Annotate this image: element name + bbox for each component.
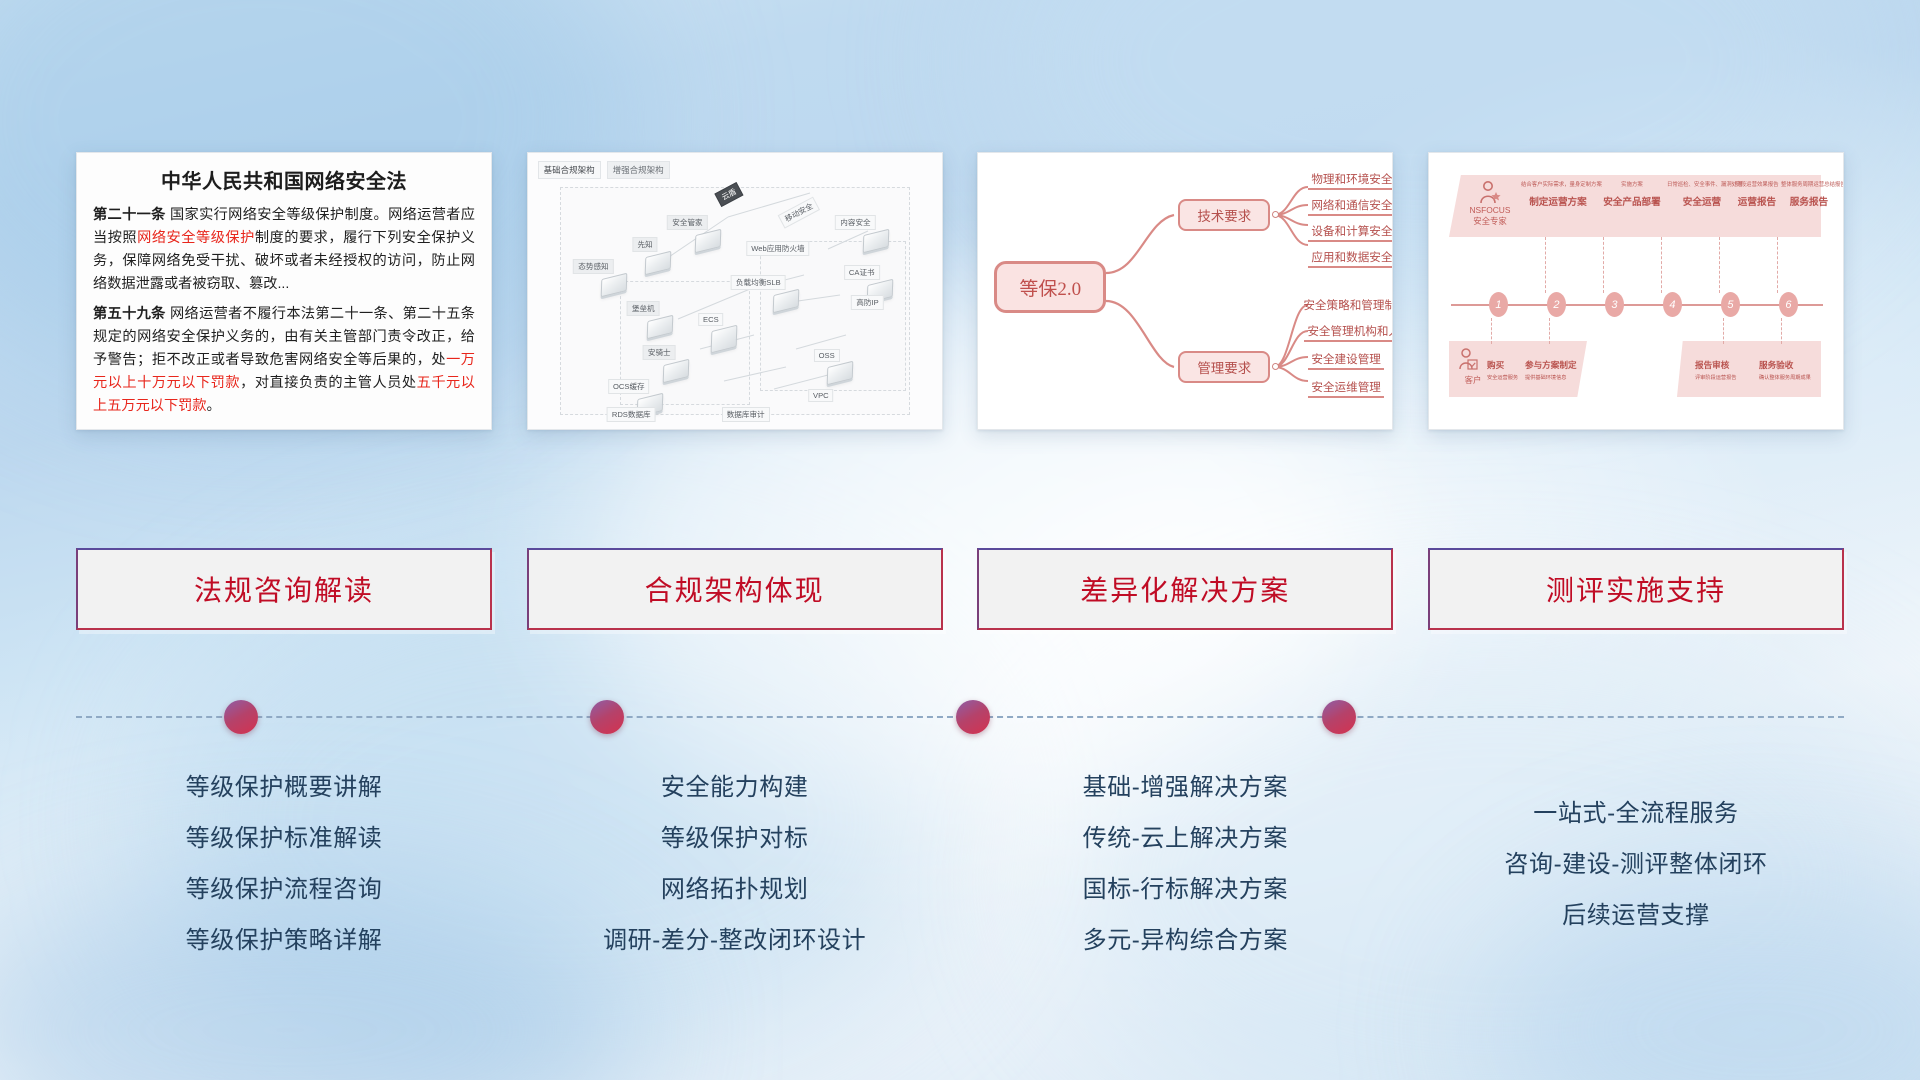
client-step-2: 参与方案制定 提供基础环境信息 bbox=[1525, 359, 1577, 381]
timeline-step-number: 2 bbox=[1547, 292, 1566, 317]
timeline-step-number: 4 bbox=[1663, 292, 1682, 317]
expert-role-label: NSFOCUS 安全专家 bbox=[1461, 205, 1519, 226]
law-article-59-text-c: 。 bbox=[207, 398, 221, 414]
arch-node-label: 堡垒机 bbox=[627, 301, 660, 316]
expert-step-main: 服务报告 bbox=[1781, 194, 1837, 208]
arch-node-label: 安全管家 bbox=[667, 215, 707, 230]
client-role: 客户 bbox=[1455, 375, 1491, 386]
heading-label: 法规咨询解读 bbox=[194, 569, 374, 609]
mindmap-branch-management: 管理要求 bbox=[1178, 351, 1270, 383]
expert-step-2: 实施方案 安全产品部署 bbox=[1595, 183, 1669, 208]
heading-box-row: 法规咨询解读 合规架构体现 差异化解决方案 测评实施支持 bbox=[0, 548, 1920, 630]
detail-column-4: 一站式-全流程服务 咨询-建设-测评整体闭环 后续运营支撑 bbox=[1428, 762, 1844, 966]
arch-node-label: 安骑士 bbox=[643, 345, 676, 360]
arch-node-label: ECS bbox=[698, 313, 724, 326]
client-step-main: 报告审核 bbox=[1695, 360, 1729, 370]
nsfocus-brand: NSFOCUS bbox=[1461, 205, 1519, 216]
card-nsfocus-service-timeline[interactable]: NSFOCUS 安全专家 结合客户实际需求，量身定制方案 制定运营方案 实施方案… bbox=[1428, 152, 1844, 430]
client-step-tiny: 安全运营服务 bbox=[1487, 374, 1518, 381]
card-dengbao-mindmap[interactable]: 等保2.0 技术要求 管理要求 物理和环境安全 网络和通信安全 设备和计算安全 … bbox=[977, 152, 1393, 430]
mindmap-leaf: 物理和环境安全 bbox=[1308, 171, 1393, 190]
timeline-tick bbox=[1545, 237, 1546, 293]
detail-item: 一站式-全流程服务 bbox=[1428, 788, 1844, 839]
arch-node-label: OCS缓存 bbox=[608, 379, 650, 394]
client-step-tiny: 评审阶段运营报告 bbox=[1695, 374, 1737, 381]
timeline-tick bbox=[1549, 318, 1550, 344]
client-step-tiny: 确认整体服务周期成果 bbox=[1759, 374, 1811, 381]
timeline-step-number: 1 bbox=[1489, 292, 1508, 317]
mindmap-leaf: 安全运维管理 bbox=[1308, 379, 1384, 398]
mindmap-leaf: 安全策略和管理制度 bbox=[1300, 297, 1393, 314]
mindmap-leaf: 网络和通信安全 bbox=[1308, 197, 1393, 216]
client-role-label: 客户 bbox=[1455, 375, 1491, 386]
nsfocus-timeline-diagram: NSFOCUS 安全专家 结合客户实际需求，量身定制方案 制定运营方案 实施方案… bbox=[1429, 153, 1843, 429]
heading-box-differentiated-solution[interactable]: 差异化解决方案 bbox=[977, 548, 1393, 630]
detail-item: 多元-异构综合方案 bbox=[977, 915, 1393, 966]
law-document: 中华人民共和国网络安全法 第二十一条 国家实行网络安全等级保护制度。网络运营者应… bbox=[77, 153, 491, 430]
detail-column-2: 安全能力构建 等级保护对标 网络拓扑规划 调研-差分-整改闭环设计 bbox=[527, 762, 943, 966]
timeline-step-number: 5 bbox=[1721, 292, 1740, 317]
detail-item: 咨询-建设-测评整体闭环 bbox=[1428, 839, 1844, 890]
expert-step-sub: 阶段运营效果报告 bbox=[1729, 183, 1785, 189]
arch-node-label: 高防IP bbox=[851, 295, 883, 310]
detail-column-3: 基础-增强解决方案 传统-云上解决方案 国标-行标解决方案 多元-异构综合方案 bbox=[977, 762, 1393, 966]
heading-label: 合规架构体现 bbox=[645, 569, 825, 609]
timeline-node-2[interactable] bbox=[590, 700, 624, 734]
timeline-step-number: 6 bbox=[1779, 292, 1798, 317]
law-article-21-highlight: 网络安全等级保护 bbox=[137, 230, 255, 246]
law-article-21: 第二十一条 国家实行网络安全等级保护制度。网络运营者应当按照网络安全等级保护制度… bbox=[93, 204, 475, 296]
expert-step-5: 整体服务周期运营总结报告 服务报告 bbox=[1781, 183, 1837, 208]
timeline-tick bbox=[1491, 318, 1492, 344]
heading-label: 测评实施支持 bbox=[1546, 569, 1726, 609]
heading-box-assessment-support[interactable]: 测评实施支持 bbox=[1428, 548, 1844, 630]
heading-label: 差异化解决方案 bbox=[1080, 569, 1290, 609]
card-compliance-architecture[interactable]: 基础合规架构 增强合规架构 bbox=[527, 152, 943, 430]
mindmap-root-node: 等保2.0 bbox=[994, 261, 1106, 313]
mindmap-leaf: 设备和计算安全 bbox=[1308, 223, 1393, 242]
arch-node-label: 数据库审计 bbox=[722, 407, 770, 422]
heading-box-regulation-consulting[interactable]: 法规咨询解读 bbox=[76, 548, 492, 630]
detail-column-row: 等级保护概要讲解 等级保护标准解读 等级保护流程咨询 等级保护策略详解 安全能力… bbox=[0, 762, 1920, 966]
mindmap-leaf: 应用和数据安全 bbox=[1308, 249, 1393, 268]
timeline-node-4[interactable] bbox=[1322, 700, 1356, 734]
client-step-main: 服务验收 bbox=[1759, 360, 1793, 370]
mindmap-branch-technical: 技术要求 bbox=[1178, 199, 1270, 231]
detail-item: 等级保护流程咨询 bbox=[76, 864, 492, 915]
detail-item: 安全能力构建 bbox=[527, 762, 943, 813]
mindmap-diagram: 等保2.0 技术要求 管理要求 物理和环境安全 网络和通信安全 设备和计算安全 … bbox=[978, 153, 1392, 429]
heading-box-compliance-architecture[interactable]: 合规架构体现 bbox=[527, 548, 943, 630]
timeline-tick bbox=[1777, 237, 1778, 293]
card-cybersecurity-law[interactable]: 中华人民共和国网络安全法 第二十一条 国家实行网络安全等级保护制度。网络运营者应… bbox=[76, 152, 492, 430]
timeline-tick bbox=[1661, 237, 1662, 293]
detail-item: 网络拓扑规划 bbox=[527, 864, 943, 915]
detail-item: 传统-云上解决方案 bbox=[977, 813, 1393, 864]
arch-node-label: OSS bbox=[814, 349, 840, 362]
timeline-tick bbox=[1723, 318, 1724, 344]
timeline-node-3[interactable] bbox=[956, 700, 990, 734]
client-step-main: 参与方案制定 bbox=[1525, 360, 1577, 370]
detail-item: 调研-差分-整改闭环设计 bbox=[527, 915, 943, 966]
detail-item: 等级保护标准解读 bbox=[76, 813, 492, 864]
expert-step-1: 结合客户实际需求，量身定制方案 制定运营方案 bbox=[1521, 183, 1595, 208]
arch-node-label: 负载均衡SLB bbox=[731, 275, 786, 290]
arch-node-label: 态势感知 bbox=[573, 259, 613, 274]
architecture-diagram: 基础合规架构 增强合规架构 bbox=[528, 153, 942, 429]
arch-node-label: VPC bbox=[808, 389, 834, 402]
arch-node-label: CA证书 bbox=[844, 265, 880, 280]
timeline-step-number: 3 bbox=[1605, 292, 1624, 317]
detail-item: 后续运营支撑 bbox=[1428, 890, 1844, 941]
timeline-tick bbox=[1719, 237, 1720, 293]
law-article-21-label: 第二十一条 bbox=[93, 207, 166, 223]
process-timeline bbox=[76, 700, 1844, 734]
client-step-main: 购买 bbox=[1487, 360, 1504, 370]
expert-step-main: 安全运营 bbox=[1667, 194, 1737, 208]
arch-node-label: RDS数据库 bbox=[607, 407, 656, 422]
detail-item: 等级保护策略详解 bbox=[76, 915, 492, 966]
detail-item: 等级保护对标 bbox=[527, 813, 943, 864]
expert-step-sub: 日常巡检、安全事件、漏洞处理 bbox=[1667, 183, 1737, 189]
timeline-tick bbox=[1603, 237, 1604, 293]
detail-item: 国标-行标解决方案 bbox=[977, 864, 1393, 915]
law-article-59: 第五十九条 网络运营者不履行本法第二十一条、第二十五条规定的网络安全保护义务的，… bbox=[93, 303, 475, 418]
detail-column-1: 等级保护概要讲解 等级保护标准解读 等级保护流程咨询 等级保护策略详解 bbox=[76, 762, 492, 966]
client-person-icon bbox=[1457, 347, 1479, 371]
detail-item: 等级保护概要讲解 bbox=[76, 762, 492, 813]
expert-step-main: 运营报告 bbox=[1729, 194, 1785, 208]
arch-node-label: Web应用防火墙 bbox=[746, 241, 809, 256]
detail-item: 基础-增强解决方案 bbox=[977, 762, 1393, 813]
expert-step-sub: 实施方案 bbox=[1595, 183, 1669, 189]
timeline-tick bbox=[1781, 318, 1782, 344]
arch-node-label: 先知 bbox=[632, 237, 657, 252]
expert-step-4: 阶段运营效果报告 运营报告 bbox=[1729, 183, 1785, 208]
expert-person-icon bbox=[1477, 179, 1503, 205]
expert-step-sub: 结合客户实际需求，量身定制方案 bbox=[1521, 183, 1595, 189]
expert-step-main: 制定运营方案 bbox=[1521, 194, 1595, 208]
law-title: 中华人民共和国网络安全法 bbox=[93, 165, 475, 194]
arch-node-label: 内容安全 bbox=[835, 215, 875, 230]
thumbnail-card-row: 中华人民共和国网络安全法 第二十一条 国家实行网络安全等级保护制度。网络运营者应… bbox=[0, 152, 1920, 430]
poster-canvas: 中华人民共和国网络安全法 第二十一条 国家实行网络安全等级保护制度。网络运营者应… bbox=[0, 0, 1920, 1080]
expert-step-3: 日常巡检、安全事件、漏洞处理 安全运营 bbox=[1667, 183, 1737, 208]
mindmap-leaf: 安全管理机构和人员 bbox=[1304, 323, 1393, 342]
law-article-59-label: 第五十九条 bbox=[93, 306, 166, 322]
client-step-3: 报告审核 评审阶段运营报告 bbox=[1695, 359, 1737, 381]
client-step-tiny: 提供基础环境信息 bbox=[1525, 374, 1577, 381]
timeline-node-1[interactable] bbox=[224, 700, 258, 734]
client-step-4: 服务验收 确认整体服务周期成果 bbox=[1759, 359, 1811, 381]
client-step-1: 购买 安全运营服务 bbox=[1487, 359, 1518, 381]
expert-step-main: 安全产品部署 bbox=[1595, 194, 1669, 208]
mindmap-leaf: 安全建设管理 bbox=[1308, 351, 1384, 370]
law-article-59-text-b: ，对直接负责的主管人员处 bbox=[240, 375, 417, 391]
expert-step-sub: 整体服务周期运营总结报告 bbox=[1781, 183, 1837, 189]
nsfocus-role: 安全专家 bbox=[1461, 216, 1519, 227]
